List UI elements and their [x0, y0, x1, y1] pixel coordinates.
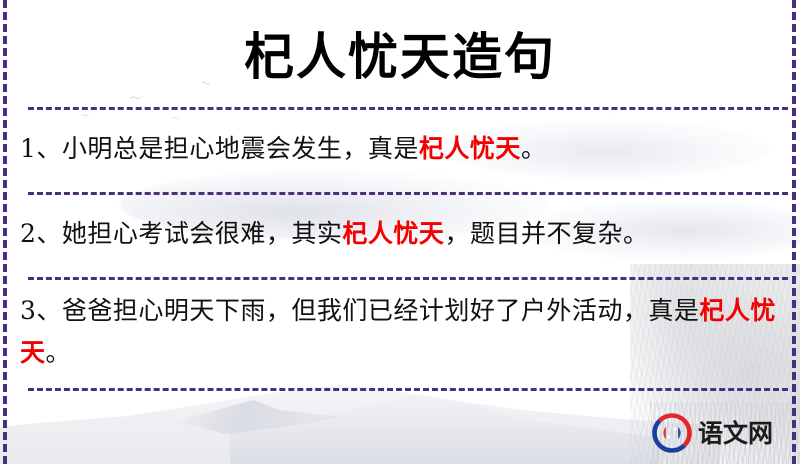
mountain-mid-icon: [230, 386, 660, 464]
separator-line: [28, 388, 788, 391]
sentence-text-before: 小明总是担心地震会发生，真是: [62, 134, 419, 163]
sentence-item: 2、她担心考试会很难，其实杞人忧天，题目并不复杂。: [20, 213, 790, 255]
separator-line: [28, 277, 788, 280]
sentence-number: 1、: [20, 134, 62, 163]
paper-plane-icon: [175, 400, 345, 434]
sentence-number: 2、: [20, 219, 62, 248]
logo-text: 语文网: [698, 421, 773, 446]
sentence-number: 3、: [20, 296, 62, 325]
bird-icon: 〜: [172, 115, 179, 122]
idiom-highlight: 杞人忧天: [342, 219, 444, 248]
separator-line: [28, 192, 788, 195]
sentence-item: 3、爸爸担心明天下雨，但我们已经计划好了户外活动，真是杞人忧天。: [20, 290, 790, 374]
site-logo[interactable]: 语文网: [652, 413, 773, 453]
sentence-item: 1、小明总是担心地震会发生，真是杞人忧天。: [20, 128, 790, 170]
slide-canvas: 〜 〜 〜 〜 杞人忧天造句 1、小明总是担心地震会发生，真是杞人忧天。 2、她…: [0, 0, 800, 464]
sentence-text-before: 她担心考试会很难，其实: [62, 219, 343, 248]
taiji-circle-emblem-icon: [652, 413, 692, 453]
sentence-text-after: ，题目并不复杂。: [444, 219, 648, 248]
idiom-highlight: 杞人忧天: [419, 134, 521, 163]
bird-icon: 〜: [130, 93, 142, 105]
sentence-text-after: 。: [46, 338, 72, 367]
sentence-text-after: 。: [521, 134, 547, 163]
bird-icon: 〜: [81, 111, 90, 120]
page-title: 杞人忧天造句: [0, 17, 800, 89]
separator-line: [28, 107, 788, 110]
sentence-text-before: 爸爸担心明天下雨，但我们已经计划好了户外活动，真是: [62, 296, 700, 325]
